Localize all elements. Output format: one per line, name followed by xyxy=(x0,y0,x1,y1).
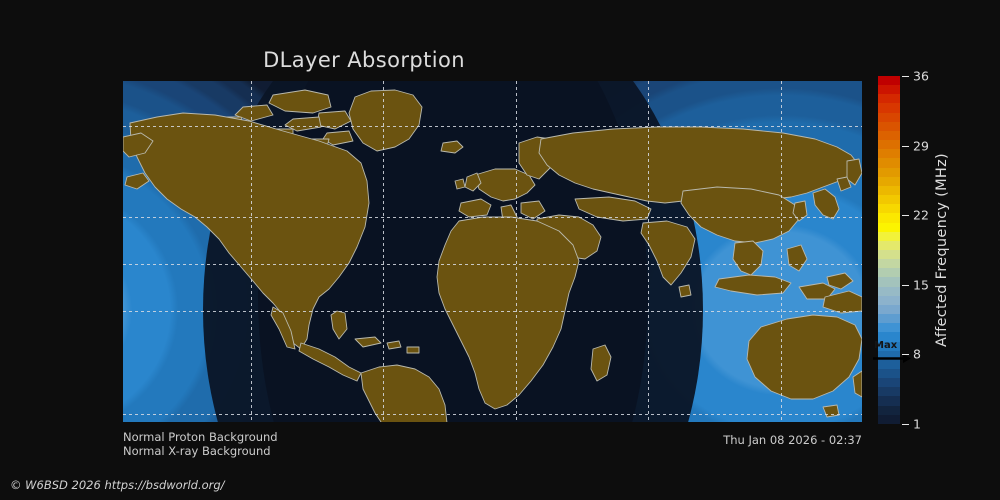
gridline-lon-1 xyxy=(251,81,252,422)
colorbar-band xyxy=(878,268,900,277)
colorbar-band xyxy=(878,232,900,241)
colorbar-band xyxy=(878,314,900,323)
colorbar-band xyxy=(878,305,900,314)
colorbar[interactable] xyxy=(878,76,900,424)
colorbar-band xyxy=(878,131,900,140)
colorbar-band xyxy=(878,406,900,415)
colorbar-band xyxy=(878,323,900,332)
colorbar-tick-mark xyxy=(902,354,909,355)
colorbar-band xyxy=(878,378,900,387)
colorbar-band xyxy=(878,149,900,158)
colorbar-tick-label: 22 xyxy=(913,208,929,223)
max-arrow-icon xyxy=(873,354,911,363)
colorbar-band xyxy=(878,241,900,250)
colorbar-tick-label: 8 xyxy=(913,347,921,362)
colorbar-band xyxy=(878,277,900,286)
colorbar-tick-label: 1 xyxy=(913,417,921,432)
colorbar-tick-label: 15 xyxy=(913,277,929,292)
colorbar-tick-label: 36 xyxy=(913,69,929,84)
xray-background-note: Normal X-ray Background xyxy=(123,444,271,458)
colorbar-max-marker: Max xyxy=(873,342,915,368)
proton-background-note: Normal Proton Background xyxy=(123,430,278,444)
colorbar-band xyxy=(878,415,900,424)
colorbar-band xyxy=(878,204,900,213)
colorbar-band xyxy=(878,103,900,112)
gridline-lat-23n xyxy=(123,217,862,218)
gridline-lon-3 xyxy=(516,81,517,422)
colorbar-band xyxy=(878,158,900,167)
colorbar-band xyxy=(878,94,900,103)
colorbar-band xyxy=(878,113,900,122)
colorbar-band xyxy=(878,369,900,378)
gridline-lon-4 xyxy=(648,81,649,422)
colorbar-band xyxy=(878,287,900,296)
gridline-lat-66s xyxy=(123,414,862,415)
map-canvas xyxy=(123,81,862,422)
colorbar-band xyxy=(878,85,900,94)
colorbar-band xyxy=(878,250,900,259)
colorbar-band xyxy=(878,396,900,405)
colorbar-tick-mark xyxy=(902,76,909,77)
colorbar-tick-mark xyxy=(902,215,909,216)
world-map[interactable] xyxy=(123,81,862,422)
colorbar-band xyxy=(878,140,900,149)
copyright-notice: © W6BSD 2026 https://bsdworld.org/ xyxy=(10,478,225,492)
colorbar-tick-label: 29 xyxy=(913,138,929,153)
colorbar-tick-mark xyxy=(902,424,909,425)
gridline-lat-66n xyxy=(123,126,862,127)
colorbar-band xyxy=(878,76,900,85)
colorbar-band xyxy=(878,223,900,232)
colorbar-band xyxy=(878,168,900,177)
gridline-lat-0 xyxy=(123,264,862,265)
colorbar-band xyxy=(878,186,900,195)
colorbar-band xyxy=(878,387,900,396)
colorbar-axis-label: Affected Frequency (MHz) xyxy=(932,76,952,424)
colorbar-band xyxy=(878,213,900,222)
dlayer-absorption-plot: DLayer Absorption xyxy=(0,0,1000,500)
max-marker-label: Max xyxy=(874,341,897,351)
colorbar-band xyxy=(878,259,900,268)
page-title: DLayer Absorption xyxy=(0,48,728,72)
colorbar-tick-mark xyxy=(902,146,909,147)
colorbar-tick-mark xyxy=(902,285,909,286)
gridline-lat-23s xyxy=(123,311,862,312)
timestamp: Thu Jan 08 2026 - 02:37 xyxy=(723,433,862,447)
colorbar-band xyxy=(878,195,900,204)
colorbar-band xyxy=(878,296,900,305)
colorbar-band xyxy=(878,177,900,186)
gridline-lon-5 xyxy=(781,81,782,422)
gridline-lon-2 xyxy=(383,81,384,422)
colorbar-band xyxy=(878,122,900,131)
